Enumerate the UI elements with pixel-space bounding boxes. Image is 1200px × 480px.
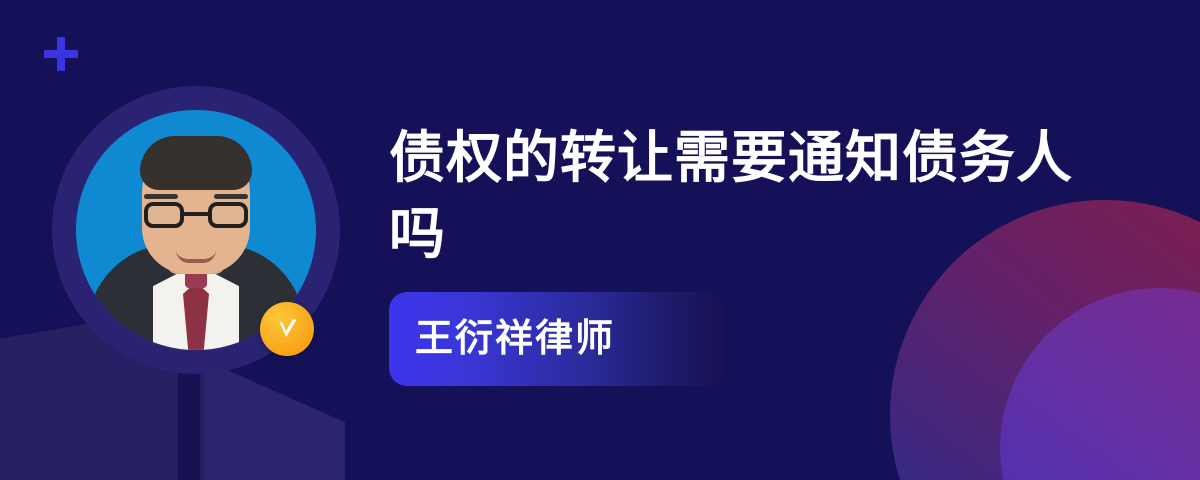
avatar [52,86,340,394]
glasses-lens-right [208,202,248,228]
lawyer-name-label: 王衍祥律师 [415,320,615,358]
glasses-icon [144,202,248,228]
verified-badge-icon [260,302,314,356]
plus-icon [44,37,78,71]
page-title: 债权的转让需要通知债务人吗 [389,120,1089,272]
portrait-eyebrow-left [144,194,178,199]
glasses-lens-left [144,202,184,228]
portrait-hair [140,136,252,190]
glasses-bridge [184,212,208,216]
portrait-eyebrow-right [214,194,248,199]
promo-card: 债权的转让需要通知债务人吗 王衍祥律师 [0,0,1200,480]
text-content: 债权的转让需要通知债务人吗 王衍祥律师 [389,120,1089,386]
lawyer-name-badge[interactable]: 王衍祥律师 [389,292,723,386]
